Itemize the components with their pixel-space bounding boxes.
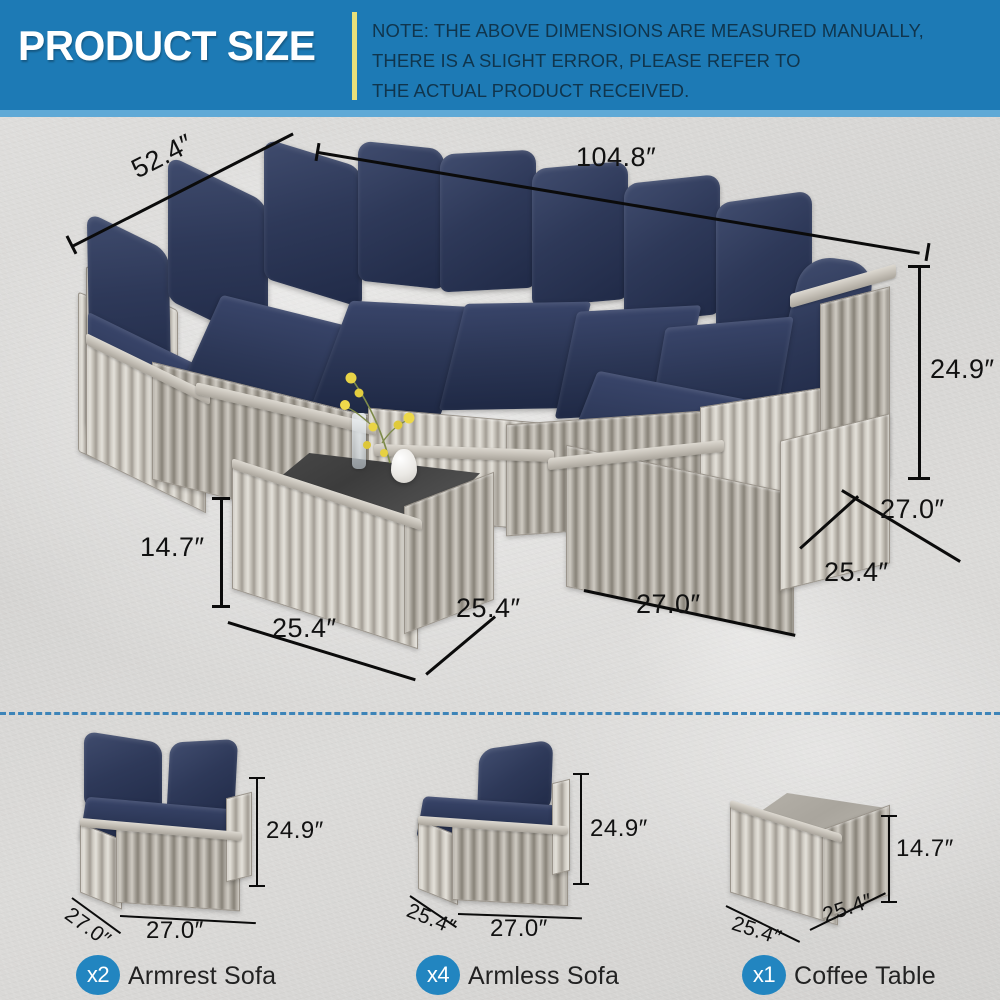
dimlabel-sofa-height: 24.9″	[930, 354, 995, 385]
badge-armrest-qty: x2	[76, 955, 120, 995]
header-banner: PRODUCT SIZE NOTE: THE ABOVE DIMENSIONS …	[0, 0, 1000, 110]
dimtick-table-top	[212, 497, 230, 500]
back-cushion-3	[264, 138, 362, 308]
dimlabel-chaise-width: 27.0″	[636, 589, 701, 620]
dimtick-width-end	[925, 243, 930, 261]
dimline-table-side	[425, 615, 496, 675]
armless-dimlabel-depth: 25.4″	[403, 899, 459, 940]
dimtick-height-bottom	[908, 477, 930, 480]
armrest-dimlabel-width: 27.0″	[146, 917, 204, 945]
header-underline	[0, 110, 1000, 117]
label-coffee-table: Coffee Table	[794, 962, 936, 991]
label-armrest-sofa: Armrest Sofa	[128, 962, 276, 991]
badge-armless-qty: x4	[416, 955, 460, 995]
dimlabel-table-height: 14.7″	[140, 532, 205, 563]
armless-frame-front	[452, 826, 568, 906]
section-divider	[0, 712, 1000, 715]
back-cushion-corner	[440, 149, 536, 292]
armrest-dimlabel-height: 24.9″	[266, 817, 324, 845]
forsythia-branch-icon	[312, 335, 422, 465]
armrest-dimtick-bottom	[249, 885, 265, 887]
badge-coffeetable-qty: x1	[742, 955, 786, 995]
measurement-note: NOTE: THE ABOVE DIMENSIONS ARE MEASURED …	[372, 16, 982, 106]
back-cushion-5	[532, 161, 628, 307]
coffeetable-dimtick-bottom	[881, 901, 897, 903]
coffeetable-dimtick-top	[881, 815, 897, 817]
armrest-frame-front	[116, 829, 240, 912]
dimtick-height-top	[908, 265, 930, 268]
dimline-table-height	[220, 497, 223, 607]
armless-dimlabel-width: 27.0″	[490, 915, 548, 943]
note-line-2: THERE IS A SLIGHT ERROR, PLEASE REFER TO	[372, 46, 982, 76]
header-divider-bar	[352, 12, 357, 100]
armless-dimtick-bottom	[573, 883, 589, 885]
dimlabel-right-side-width: 25.4″	[824, 557, 889, 588]
diagram-stage: 52.4″ 104.8″ 24.9″ 27.0″ 25.4″ 27.0″ 14.…	[0, 117, 1000, 1000]
dimline-sofa-height	[918, 265, 921, 479]
dimlabel-table-front: 25.4″	[272, 613, 337, 644]
armrest-dimline-height	[256, 777, 258, 887]
armless-dimtick-top	[573, 773, 589, 775]
dimlabel-overall-width: 104.8″	[576, 142, 656, 173]
note-line-1: NOTE: THE ABOVE DIMENSIONS ARE MEASURED …	[372, 16, 982, 46]
product-size-infographic: PRODUCT SIZE NOTE: THE ABOVE DIMENSIONS …	[0, 0, 1000, 1000]
back-cushion-4	[358, 140, 444, 289]
page-title: PRODUCT SIZE	[18, 22, 315, 70]
coffeetable-dimline-height	[888, 815, 890, 903]
dimlabel-right-depth: 27.0″	[880, 494, 945, 525]
coffeetable-dimlabel-depth: 25.4″	[729, 912, 785, 951]
dimlabel-table-side: 25.4″	[456, 593, 521, 624]
label-armless-sofa: Armless Sofa	[468, 962, 619, 991]
armless-dimline-height	[580, 773, 582, 885]
coffeetable-dimlabel-height: 14.7″	[896, 835, 954, 863]
note-line-3: THE ACTUAL PRODUCT RECEIVED.	[372, 76, 982, 106]
dimtick-table-bottom	[212, 605, 230, 608]
back-cushion-6	[624, 174, 720, 324]
armrest-dimtick-top	[249, 777, 265, 779]
armless-dimlabel-height: 24.9″	[590, 815, 648, 843]
